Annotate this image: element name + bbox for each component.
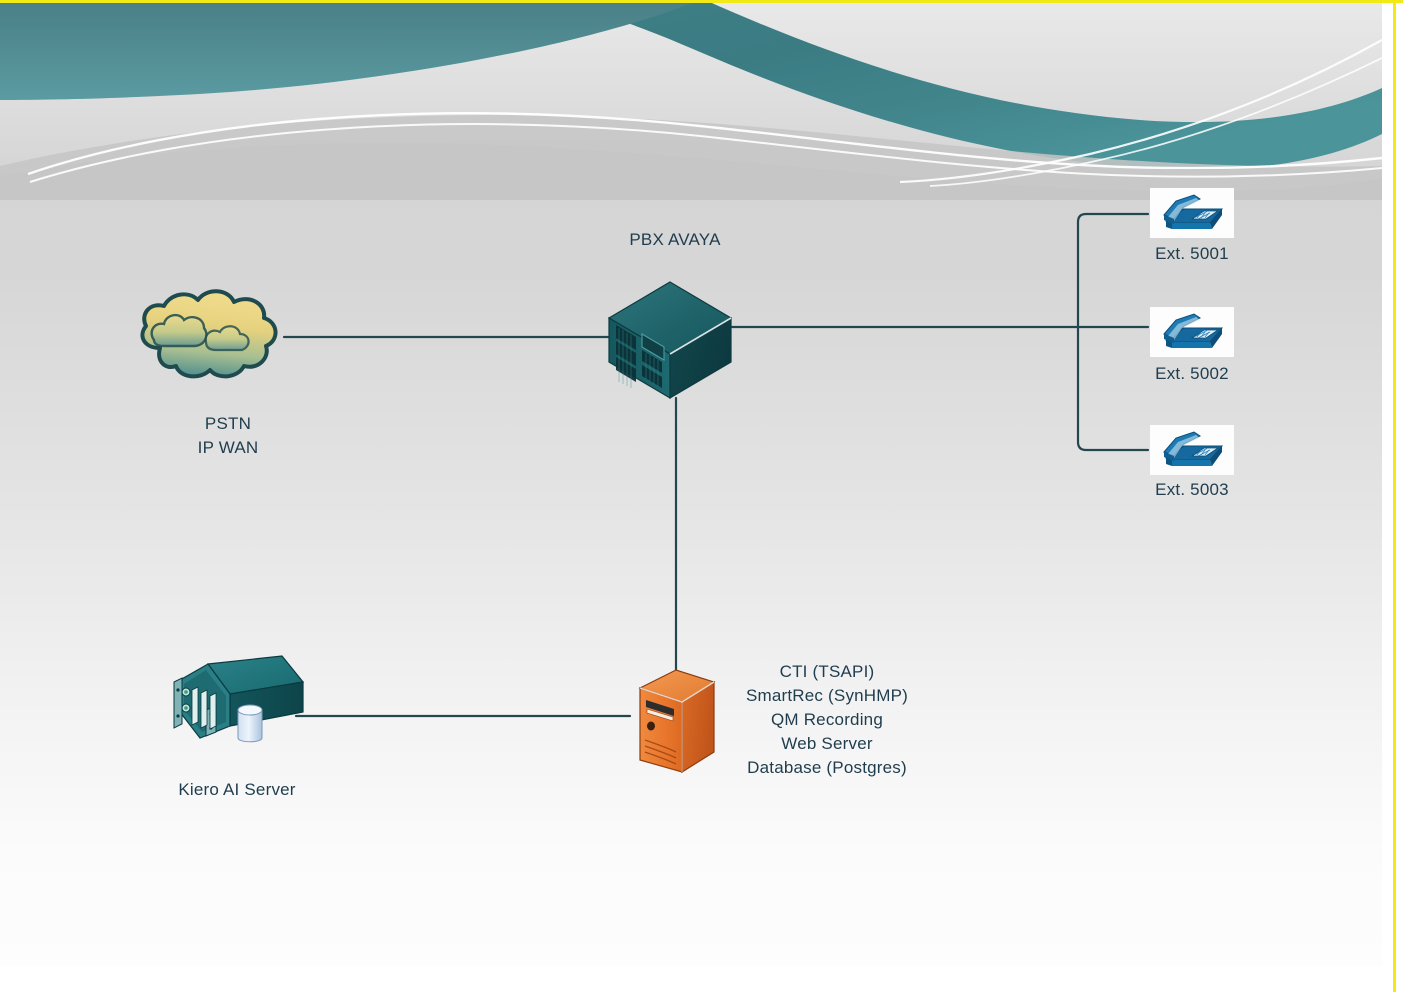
node-pstn-cloud[interactable] — [130, 286, 290, 396]
database-cylinder — [238, 705, 262, 742]
label-phone-ext-5001: Ext. 5001 — [1112, 242, 1272, 266]
tower-server-icon — [626, 660, 730, 780]
label-phone-ext-5002: Ext. 5002 — [1112, 362, 1272, 386]
label-pstn-cloud: PSTN IP WAN — [148, 412, 308, 460]
page-border-right — [1393, 0, 1396, 992]
label-phone-ext-5003: Ext. 5003 — [1112, 478, 1272, 502]
slide-surface: PSTN IP WAN PBX AVAYA — [0, 0, 1382, 966]
header-wave-graphic — [0, 0, 1382, 200]
node-phone-ext-5001[interactable] — [1150, 188, 1234, 238]
node-pbx-avaya[interactable] — [600, 278, 740, 403]
node-kiero-ai-server[interactable] — [160, 650, 310, 760]
node-recorder-server[interactable] — [626, 660, 730, 780]
label-kiero-ai-server: Kiero AI Server — [157, 778, 317, 802]
node-phone-ext-5002[interactable] — [1150, 307, 1234, 357]
desk-phone-icon — [1154, 191, 1230, 235]
diagram-canvas: PSTN IP WAN PBX AVAYA — [0, 0, 1403, 992]
label-pbx: PBX AVAYA — [595, 228, 755, 252]
rack-server-icon — [160, 650, 310, 760]
node-phone-ext-5003[interactable] — [1150, 425, 1234, 475]
desk-phone-icon — [1154, 428, 1230, 472]
pbx-cube-icon — [600, 278, 740, 403]
page-border-top — [0, 0, 1403, 3]
cloud-icon — [130, 286, 290, 396]
desk-phone-icon — [1154, 310, 1230, 354]
label-recorder-server: CTI (TSAPI) SmartRec (SynHMP) QM Recordi… — [728, 660, 926, 780]
